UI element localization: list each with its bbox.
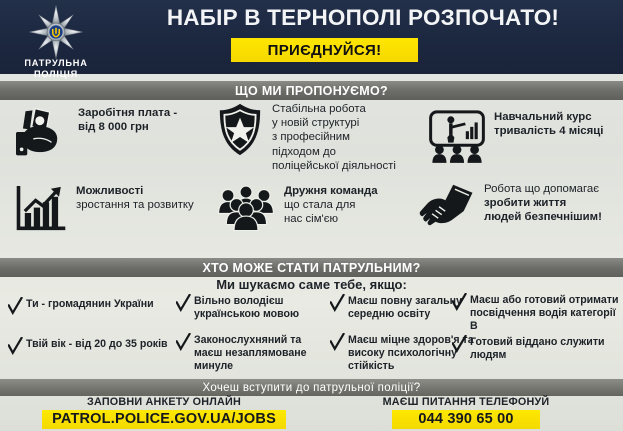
offer-item: Стабільна робота у новій структурі з про… xyxy=(216,102,416,173)
offer-item: Дружня команда що стала для нас сім'єю xyxy=(216,184,416,231)
training-presentation-icon xyxy=(428,110,486,163)
footer-phone-number[interactable]: 044 390 65 00 xyxy=(392,410,539,429)
footer-phone-caption: МАЄШ ПИТАННЯ ТЕЛЕФОНУЙ xyxy=(316,396,616,408)
checkmark-icon xyxy=(330,294,345,317)
footer: ЗАПОВНИ АНКЕТУ ОНЛАЙН PATROL.POLICE.GOV.… xyxy=(0,396,623,431)
offer-item: Навчальний курс тривалість 4 місяці xyxy=(428,110,618,163)
requirements-section-header: ХТО МОЖЕ СТАТИ ПАТРУЛЬНИМ? xyxy=(0,258,623,277)
cash-in-hand-icon xyxy=(14,106,70,158)
checkmark-icon xyxy=(452,293,467,316)
requirement-item: Законослухняний та маєш незаплямоване ми… xyxy=(176,334,326,374)
requirement-item: Готовий віддано служити людям xyxy=(452,336,620,362)
checkmark-icon xyxy=(8,337,23,360)
requirement-item: Твій вік - від 20 до 35 років xyxy=(8,338,178,360)
requirement-item: Ти - громадянин України xyxy=(8,298,168,320)
checkmark-icon xyxy=(176,333,191,356)
offer-text: Стабільна робота у новій структурі з про… xyxy=(272,102,396,173)
checkmark-icon xyxy=(176,294,191,317)
requirement-item: Маєш або готовий отримати посвідчення во… xyxy=(452,294,620,334)
police-logo: ПАТРУЛЬНА ПОЛІЦІЯ xyxy=(4,2,108,78)
footer-section-header: Хочеш вступити до патрульної поліції? xyxy=(0,379,623,396)
offer-text: Дружня команда що стала для нас сім'єю xyxy=(284,184,378,227)
footer-online-caption: ЗАПОВНИ АНКЕТУ ОНЛАЙН xyxy=(14,396,314,408)
offer-text: Робота що допомагає зробити життя людей … xyxy=(484,182,602,225)
header: ПАТРУЛЬНА ПОЛІЦІЯ НАБІР В ТЕРНОПОЛІ РОЗП… xyxy=(0,0,623,74)
police-shield-star-icon xyxy=(216,102,264,157)
footer-website-link[interactable]: PATROL.POLICE.GOV.UA/JOBS xyxy=(42,410,286,429)
footer-online-block: ЗАПОВНИ АНКЕТУ ОНЛАЙН PATROL.POLICE.GOV.… xyxy=(14,396,314,429)
handshake-icon xyxy=(418,182,476,228)
checkmark-icon xyxy=(8,297,23,320)
requirements-lead: Ми шукаємо саме тебе, якщо: xyxy=(0,277,623,292)
checkmark-icon xyxy=(452,335,467,358)
offer-item: Заробітня плата - від 8 000 грн xyxy=(14,106,209,158)
offer-item: Можливості зростання та розвитку xyxy=(14,184,214,233)
police-star-badge-icon xyxy=(28,4,84,60)
footer-phone-block: МАЄШ ПИТАННЯ ТЕЛЕФОНУЙ 044 390 65 00 xyxy=(316,396,616,429)
join-button[interactable]: ПРИЄДНУЙСЯ! xyxy=(231,38,418,62)
offer-text: Можливості зростання та розвитку xyxy=(76,184,194,212)
offer-section-header: ЩО МИ ПРОПОНУЄМО? xyxy=(0,81,623,100)
offer-item: Робота що допомагає зробити життя людей … xyxy=(418,182,623,228)
logo-caption: ПАТРУЛЬНА ПОЛІЦІЯ xyxy=(24,58,87,80)
requirements-grid: Ти - громадянин України Вільно володієш … xyxy=(0,294,623,376)
recruitment-poster: ПАТРУЛЬНА ПОЛІЦІЯ НАБІР В ТЕРНОПОЛІ РОЗП… xyxy=(0,0,623,431)
requirement-item: Вільно володієш українською мовою xyxy=(176,295,324,321)
offer-text: Заробітня плата - від 8 000 грн xyxy=(78,106,177,134)
page-title: НАБІР В ТЕРНОПОЛІ РОЗПОЧАТО! xyxy=(108,5,618,31)
offer-text: Навчальний курс тривалість 4 місяці xyxy=(494,110,603,138)
team-group-icon xyxy=(216,184,276,231)
checkmark-icon xyxy=(330,333,345,356)
growth-bar-chart-icon xyxy=(14,184,68,233)
offer-grid: Заробітня плата - від 8 000 грн Стабільн… xyxy=(0,100,623,257)
